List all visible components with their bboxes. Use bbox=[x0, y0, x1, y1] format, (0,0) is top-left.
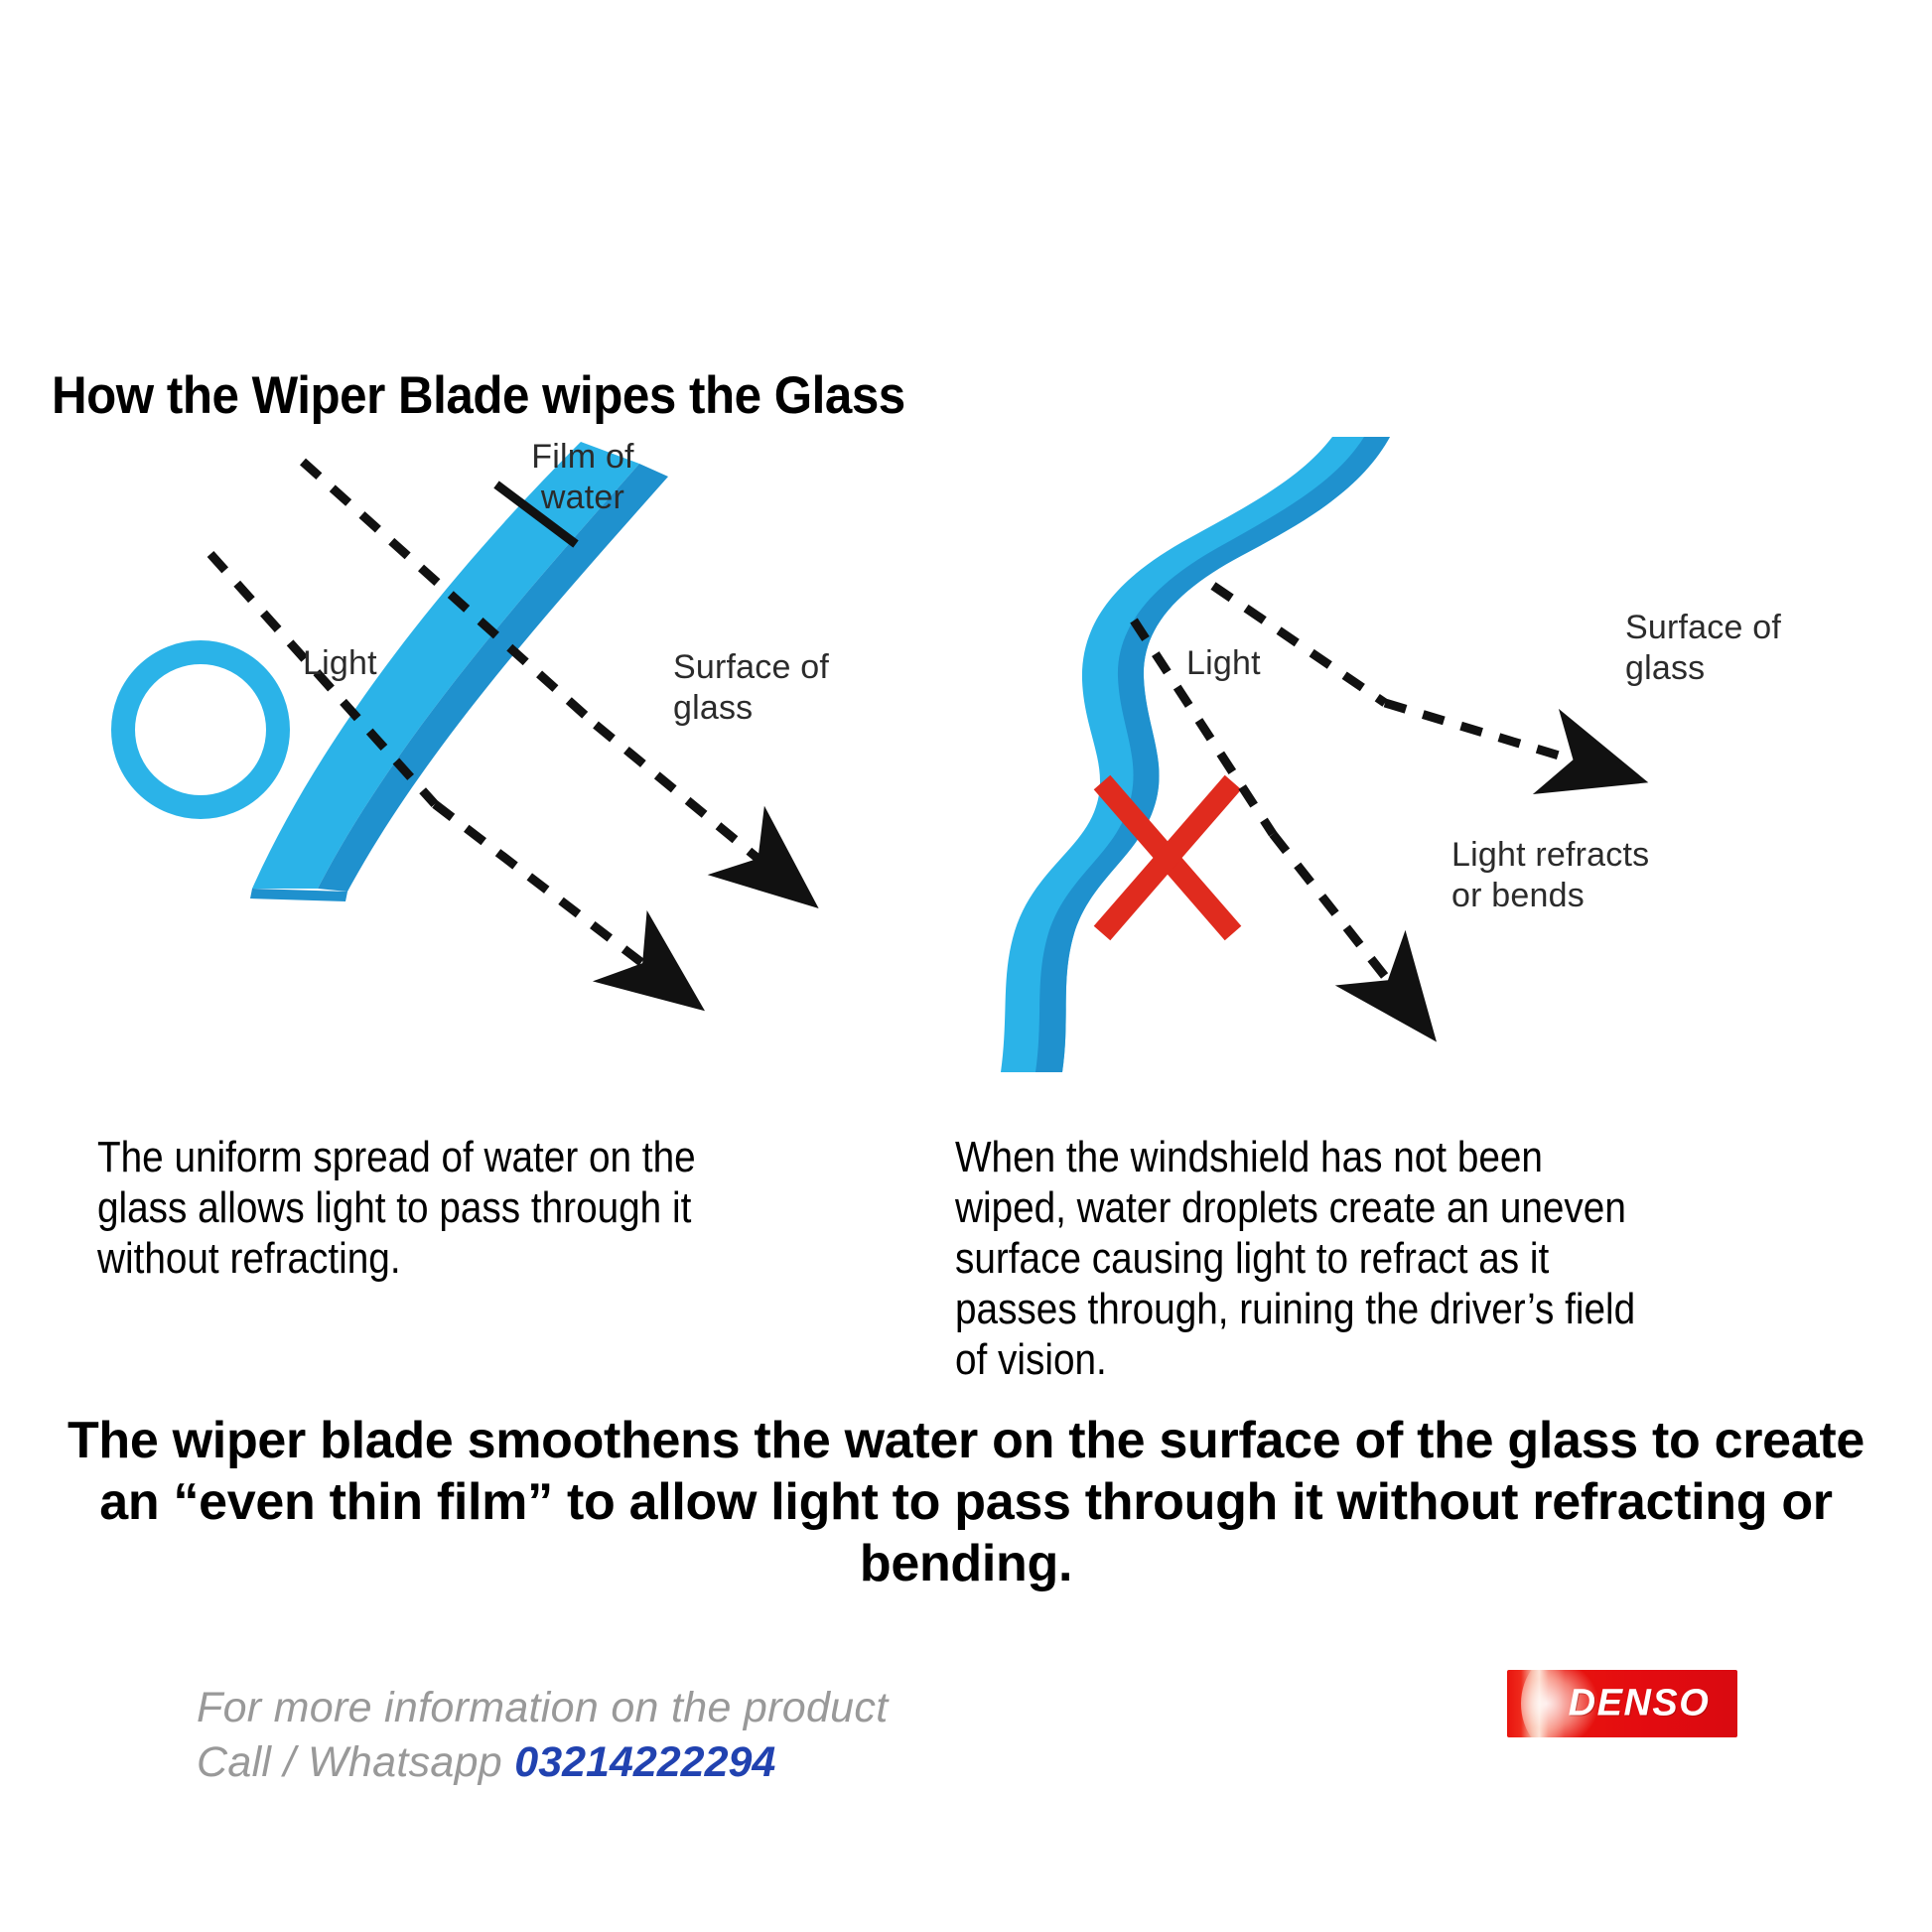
light-ray-exit-1 bbox=[596, 725, 770, 869]
light-ray-exit-2 bbox=[435, 804, 655, 973]
conclusion-statement: The wiper blade smoothens the water on t… bbox=[33, 1410, 1899, 1594]
label-surface-of-glass-right: Surface of glass bbox=[1625, 608, 1854, 689]
diagram-illustrations bbox=[0, 437, 1932, 1122]
denso-logo: DENSO bbox=[1507, 1670, 1737, 1737]
phone-number[interactable]: 03214222294 bbox=[514, 1738, 775, 1786]
label-light-left: Light bbox=[303, 643, 377, 684]
caption-left: The uniform spread of water on the glass… bbox=[97, 1132, 787, 1284]
footer-area: For more information on the product Call… bbox=[0, 1648, 1932, 1866]
contact-info: For more information on the product Call… bbox=[197, 1681, 888, 1790]
label-surface-of-glass-left: Surface of glass bbox=[673, 647, 901, 729]
contact-line-2: Call / Whatsapp 03214222294 bbox=[197, 1735, 888, 1790]
glass-band-right-icon bbox=[1001, 437, 1390, 1072]
label-film-of-water: Film of water bbox=[488, 437, 677, 518]
light-ray-refracted-2 bbox=[1273, 834, 1398, 993]
denso-wordmark: DENSO bbox=[1507, 1683, 1737, 1725]
caption-right: When the windshield has not been wiped, … bbox=[955, 1132, 1645, 1385]
water-ring-icon bbox=[123, 652, 278, 807]
infographic-page: How the Wiper Blade wipes the Glass bbox=[0, 0, 1932, 1932]
light-ray-refracted-1 bbox=[1385, 703, 1588, 764]
label-light-right: Light bbox=[1186, 643, 1261, 684]
contact-line-1: For more information on the product bbox=[197, 1681, 888, 1735]
contact-call-whatsapp-label: Call / Whatsapp bbox=[197, 1738, 514, 1786]
label-light-refracts-or-bends: Light refracts or bends bbox=[1451, 835, 1739, 916]
diagrams-area: Film of water Light Surface of glass Lig… bbox=[0, 437, 1932, 1122]
right-diagram-group bbox=[1001, 437, 1588, 1072]
page-title: How the Wiper Blade wipes the Glass bbox=[52, 365, 905, 426]
